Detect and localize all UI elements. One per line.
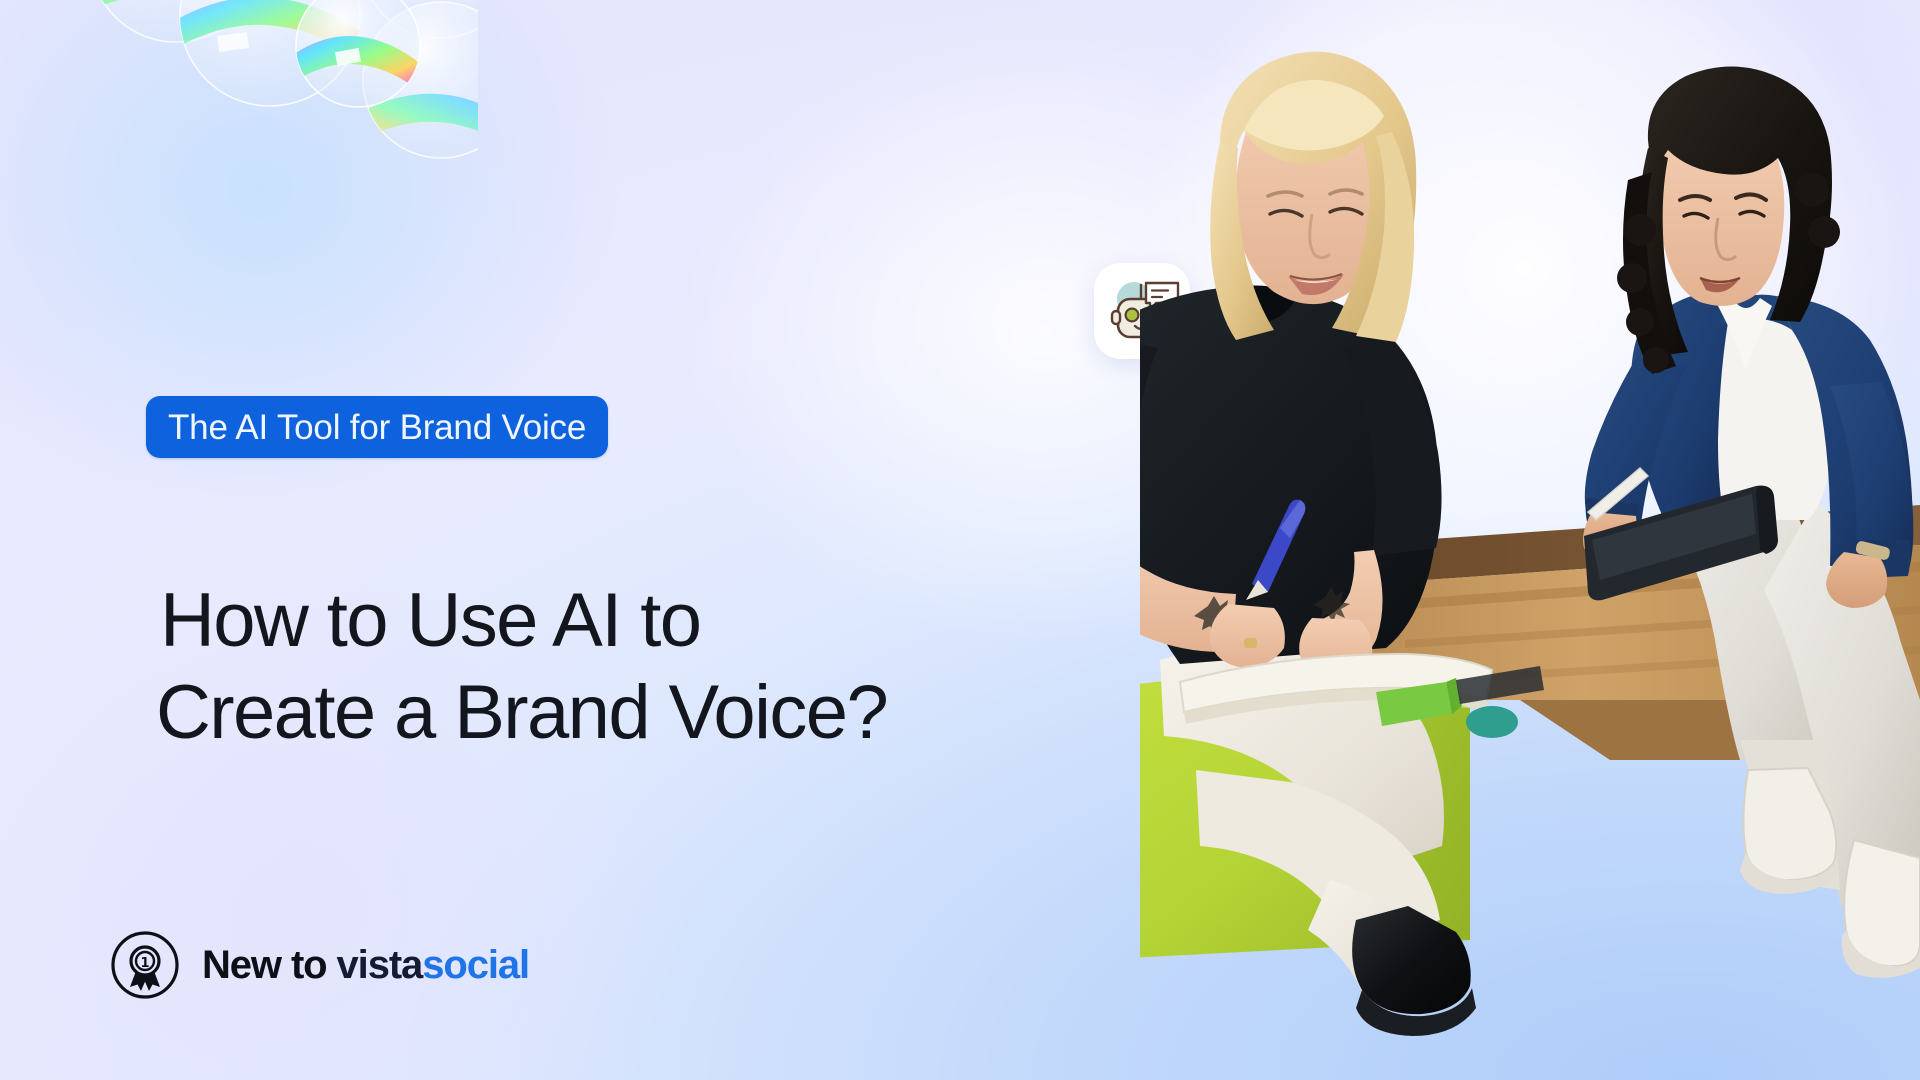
brand-prefix-label: New to (202, 943, 337, 987)
man-using-tablet (1583, 66, 1920, 977)
svg-text:1: 1 (140, 956, 149, 971)
hero-text-block: The AI Tool for Brand Voice How to Use A… (0, 0, 1000, 1080)
brand-lockup-text: New to vistasocial (202, 945, 529, 985)
award-ribbon-icon: 1 (110, 930, 180, 1000)
two-people-collaborating-photo (1140, 0, 1920, 1080)
hero-banner: The AI Tool for Brand Voice How to Use A… (0, 0, 1920, 1080)
page-title-line-1: How to Use AI to (160, 575, 1000, 667)
eyebrow-badge-label: The AI Tool for Brand Voice (168, 410, 586, 445)
brand-lockup[interactable]: 1 New to vistasocial (110, 930, 529, 1000)
eyebrow-badge: The AI Tool for Brand Voice (146, 396, 608, 458)
page-title: How to Use AI to Create a Brand Voice? (160, 575, 1000, 759)
brand-name-first: vista (337, 943, 423, 987)
page-title-line-2: Create a Brand Voice? (156, 667, 1000, 759)
brand-name-second: social (422, 943, 529, 987)
